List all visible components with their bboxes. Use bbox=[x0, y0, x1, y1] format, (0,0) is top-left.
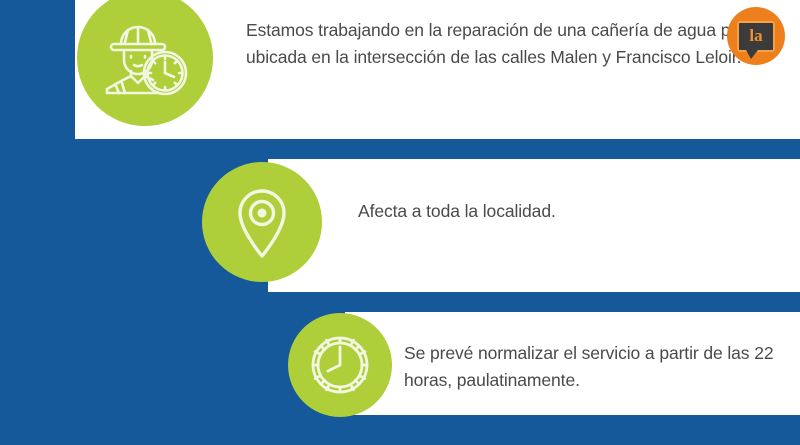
speech-bubble-icon: la bbox=[737, 21, 775, 52]
info-text-2: Afecta a toda la localidad. bbox=[358, 198, 788, 225]
info-text-3: Se prevé normalizar el servicio a partir… bbox=[404, 340, 796, 394]
worker-with-clock-icon bbox=[99, 19, 191, 97]
logo-text: la bbox=[749, 27, 762, 44]
icon-circle-2 bbox=[202, 162, 322, 282]
icon-circle-3 bbox=[288, 313, 392, 417]
la-logo-badge[interactable]: la bbox=[727, 7, 785, 65]
info-text-1: Estamos trabajando en la reparación de u… bbox=[246, 17, 786, 71]
location-pin-icon bbox=[234, 186, 290, 258]
clock-icon bbox=[308, 333, 372, 397]
info-panel-2 bbox=[268, 159, 800, 292]
service-notice-infographic: Estamos trabajando en la reparación de u… bbox=[0, 0, 800, 445]
